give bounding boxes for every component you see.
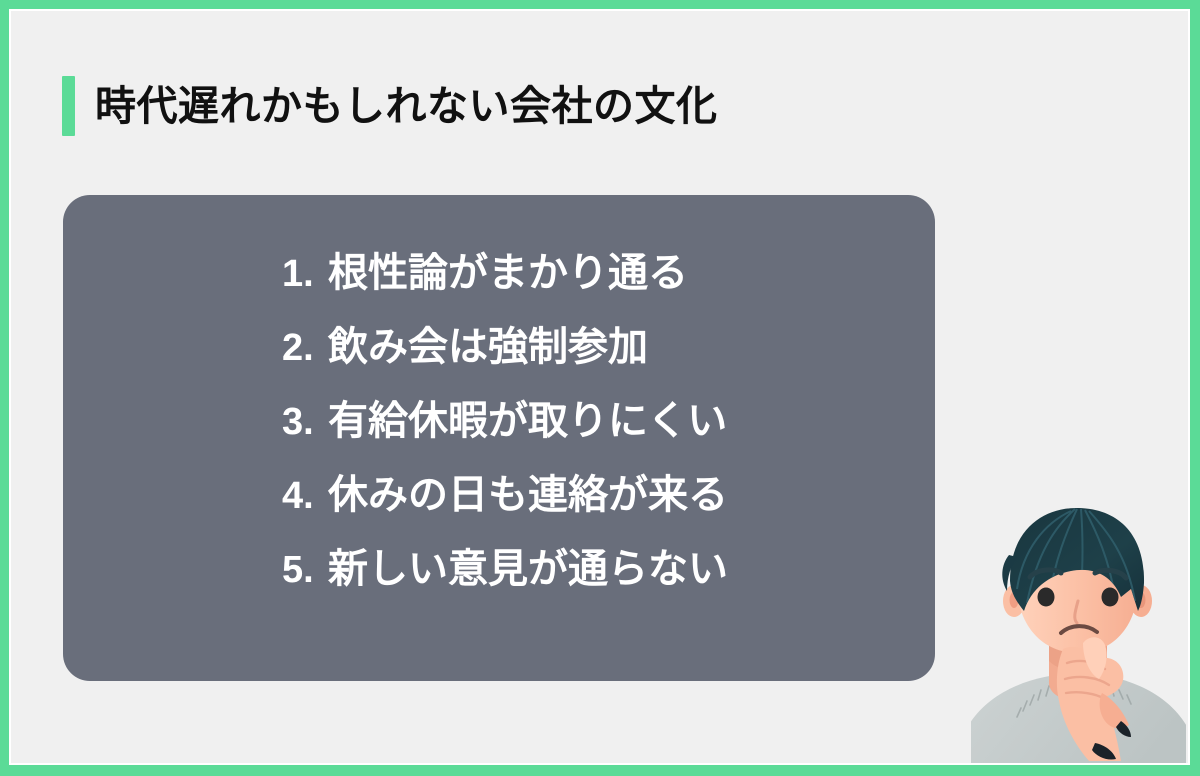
list-item: 1. 根性論がまかり通る [282, 253, 688, 327]
list-item-label: 休みの日も連絡が来る [328, 475, 728, 515]
content-card: 1. 根性論がまかり通る 2. 飲み会は強制参加 3. 有給休暇が取りにくい 4… [63, 195, 935, 681]
list-item-label: 飲み会は強制参加 [328, 327, 648, 367]
thinking-man-illustration [971, 493, 1186, 763]
list-item-label: 有給休暇が取りにくい [328, 401, 727, 441]
title-accent-bar [62, 76, 75, 136]
numbered-list: 1. 根性論がまかり通る 2. 飲み会は強制参加 3. 有給休暇が取りにくい 4… [63, 195, 935, 681]
eye-left [1038, 588, 1055, 607]
list-item: 5. 新しい意見が通らない [282, 549, 728, 623]
list-item-label: 根性論がまかり通る [328, 253, 688, 293]
list-item: 4. 休みの日も連絡が来る [282, 475, 728, 549]
list-item-number: 5. [282, 551, 328, 589]
list-item-label: 新しい意見が通らない [328, 549, 728, 589]
title-text: 時代遅れかもしれない会社の文化 [95, 86, 718, 127]
eye-right [1102, 588, 1119, 607]
page-title: 時代遅れかもしれない会社の文化 [62, 75, 718, 137]
list-item: 3. 有給休暇が取りにくい [282, 401, 727, 475]
list-item-number: 4. [282, 477, 328, 515]
slide-root: 時代遅れかもしれない会社の文化 1. 根性論がまかり通る 2. 飲み会は強制参加… [0, 0, 1200, 776]
list-item: 2. 飲み会は強制参加 [282, 327, 648, 401]
slide-inner-panel: 時代遅れかもしれない会社の文化 1. 根性論がまかり通る 2. 飲み会は強制参加… [11, 11, 1188, 763]
list-item-number: 2. [282, 329, 328, 367]
list-item-number: 1. [282, 255, 328, 293]
list-item-number: 3. [282, 403, 328, 441]
